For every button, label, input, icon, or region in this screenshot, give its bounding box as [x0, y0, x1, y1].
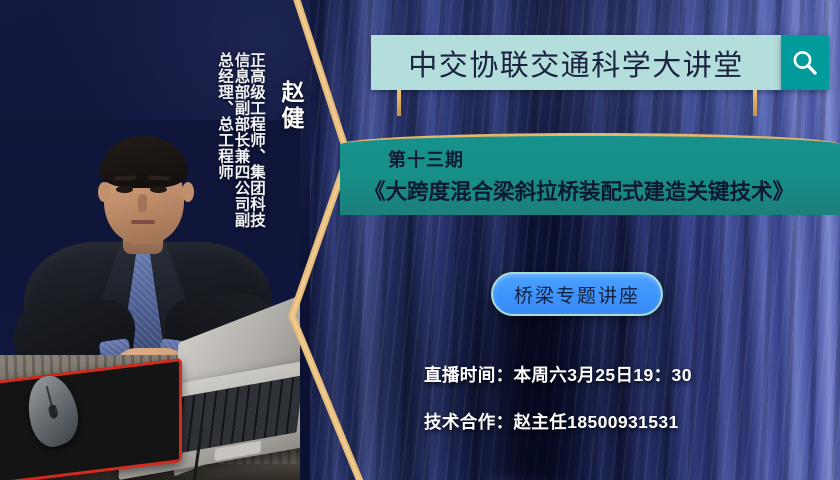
issue-number: 第十三期 — [388, 146, 840, 172]
lecture-subtitle-band: 第十三期 《大跨度混合梁斜拉桥装配式建造关键技术》 — [340, 133, 840, 215]
mouth — [131, 220, 155, 224]
contact-line: 技术合作：赵主任18500931531 — [424, 409, 824, 434]
eye-right — [150, 186, 167, 193]
search-icon — [790, 48, 820, 78]
nose — [138, 194, 147, 212]
search-button[interactable] — [781, 35, 829, 90]
broadcast-info: 直播时间：本周六3月25日19：30 技术合作：赵主任18500931531 — [424, 362, 824, 456]
speaker-credentials: 赵健 正高级工程师、集团科技 信息部副部长兼四公司副 总经理、总工程师 — [176, 14, 312, 314]
poster-canvas: 赵健 正高级工程师、集团科技 信息部副部长兼四公司副 总经理、总工程师 中交协联… — [0, 0, 840, 480]
mousepad — [0, 358, 182, 480]
speaker-title-line-3: 总经理、总工程师 — [217, 52, 233, 180]
banner-tick-right — [753, 90, 757, 116]
lecture-title: 《大跨度混合梁斜拉桥装配式建造关键技术》 — [364, 175, 840, 206]
speaker-name: 赵健 — [274, 80, 308, 132]
speaker-title-line-1: 正高级工程师、集团科技 — [249, 52, 265, 228]
computer-mouse — [21, 369, 84, 454]
topic-badge[interactable]: 桥梁专题讲座 — [491, 272, 663, 316]
live-time-line: 直播时间：本周六3月25日19：30 — [424, 362, 824, 387]
banner-tick-left — [397, 90, 401, 116]
hair — [100, 136, 188, 188]
ear-left — [98, 182, 110, 202]
header-banner: 中交协联交通科学大讲堂 — [371, 35, 781, 90]
eye-left — [116, 186, 133, 193]
page-title: 中交协联交通科学大讲堂 — [408, 42, 744, 84]
mouse-wheel — [47, 404, 58, 420]
speaker-title-line-2: 信息部副部长兼四公司副 — [233, 52, 249, 228]
topic-badge-label: 桥梁专题讲座 — [514, 281, 640, 308]
